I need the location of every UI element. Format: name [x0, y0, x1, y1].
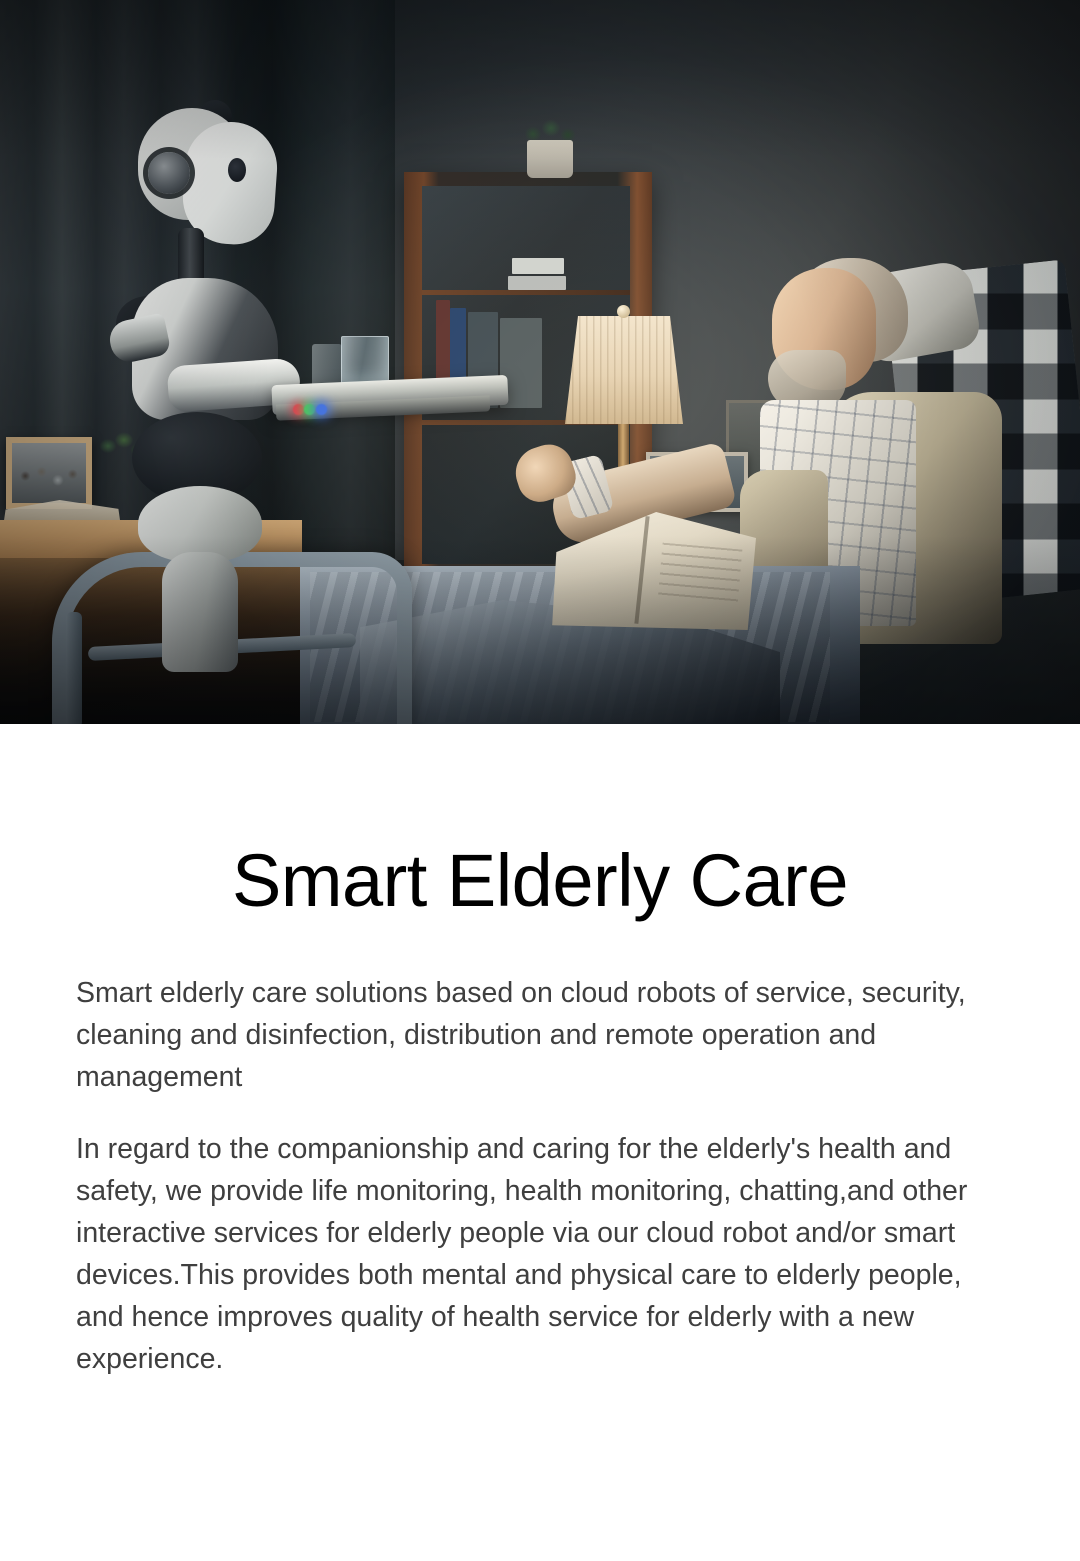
bed-rail-post	[66, 612, 82, 724]
shelf-book	[508, 276, 566, 290]
shelf-book	[512, 258, 564, 274]
hero-image	[0, 0, 1080, 724]
robot-eye	[228, 158, 246, 182]
bedside-lamp-shade	[565, 316, 683, 424]
robot-pelvis	[138, 486, 262, 562]
robot-ear-sensor	[148, 152, 190, 194]
shelf-plant-pot	[527, 140, 573, 178]
page-title: Smart Elderly Care	[76, 724, 1004, 920]
body-copy: Smart elderly care solutions based on cl…	[76, 920, 1004, 1380]
content-section: Smart Elderly Care Smart elderly care so…	[0, 724, 1080, 1380]
desk-photo-image	[12, 443, 86, 503]
status-led-red	[293, 404, 304, 415]
desk-photo-frame	[6, 437, 92, 509]
description-paragraph-2: In regard to the companionship and carin…	[76, 1128, 1004, 1380]
robot-leg	[162, 552, 238, 672]
book-page-text	[658, 543, 743, 608]
lamp-finial	[617, 305, 630, 318]
status-led-blue	[316, 404, 327, 415]
status-led-green	[304, 404, 315, 415]
description-paragraph-1: Smart elderly care solutions based on cl…	[76, 972, 1004, 1098]
bookshelf-rail	[422, 290, 630, 295]
